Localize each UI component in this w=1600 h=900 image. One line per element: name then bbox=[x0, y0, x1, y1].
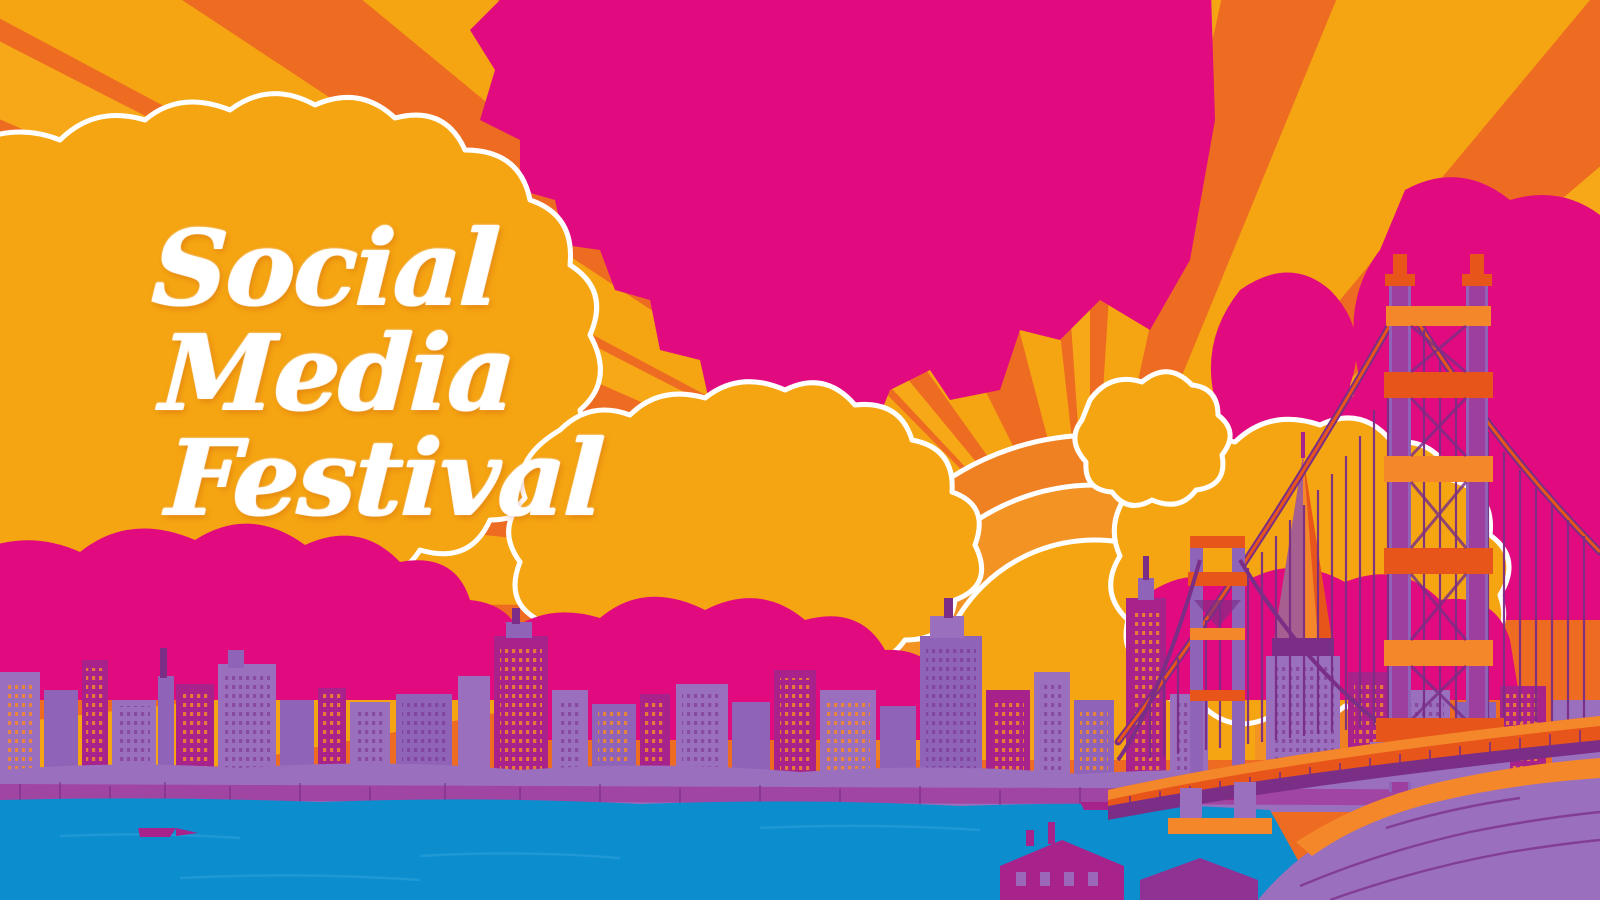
shoreline-buildings bbox=[1000, 822, 1258, 900]
headland-layer bbox=[0, 0, 1600, 900]
poster-canvas: Social Media Festival bbox=[0, 0, 1600, 900]
